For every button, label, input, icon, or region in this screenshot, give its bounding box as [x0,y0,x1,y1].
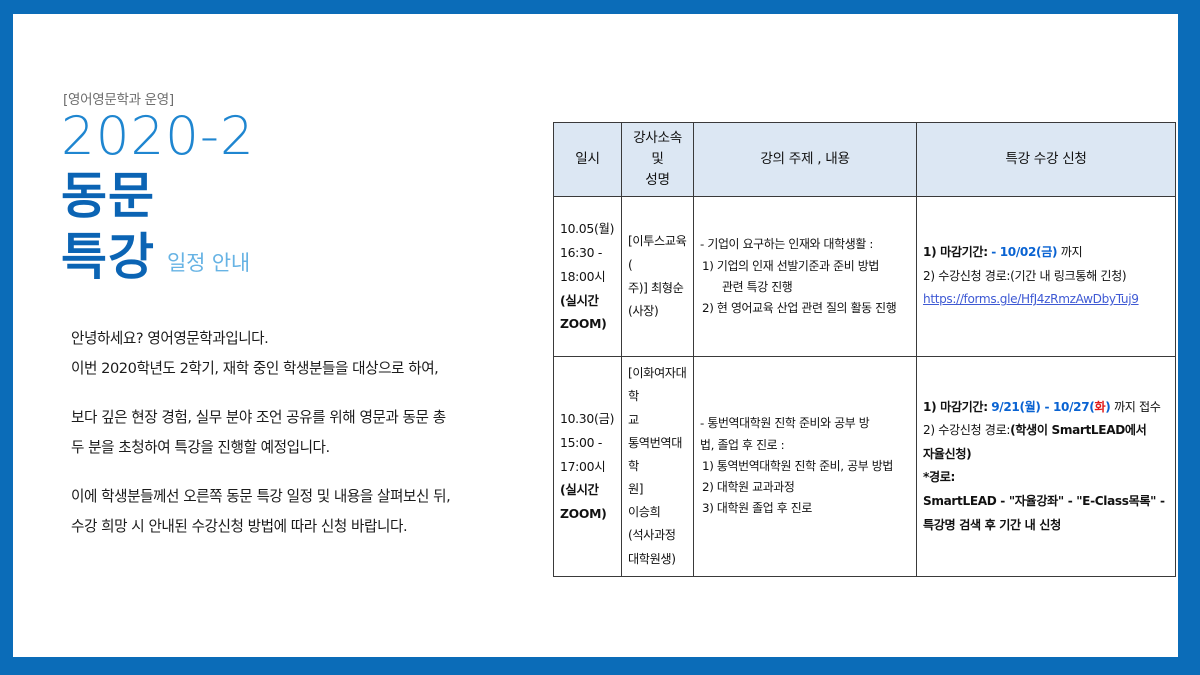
row2-date-line2: 15:00 - [560,435,602,450]
row2-instructor-line5: 이승희 [628,505,660,519]
row2-apply-deadline-date-red: 화 [1095,400,1106,414]
row1-topic-item1-cont: 관련 특강 진행 [700,277,910,298]
col-header-apply: 특강 수강 신청 [917,123,1176,197]
body-p3-line2: 수강 희망 시 안내된 수강신청 방법에 따라 신청 바랍니다. [71,512,501,542]
schedule-table-wrapper: 일시 강사소속 및 성명 강의 주제 , 내용 특강 수강 신청 10.05(월… [553,122,1175,577]
row2-apply-path-steps: SmartLEAD - "자율강좌" - "E-Class목록" - [923,490,1169,514]
row1-instructor-line3: (사장) [628,304,658,318]
slide-canvas: [영어영문학과 운영] 2020-2 동문 특강 일정 안내 안녕하세요? 영어… [13,14,1178,657]
row2-instructor-line4: 원] [628,482,643,496]
row2-topic-lead2: 법, 졸업 후 진로 : [700,435,910,456]
row2-apply-route-value: (학생이 SmartLEAD에서 [1010,423,1146,437]
row2-instructor-line1: [이화여자대학 [628,366,686,403]
body-p1-line1: 안녕하세요? 영어영문학과입니다. [71,324,501,354]
row2-apply-deadline-date-close: ) [1105,400,1110,414]
row2-apply-path-label: *경로: [923,466,1169,490]
row2-date-line3: 17:00시 [560,459,605,474]
row1-date-line2: 16:30 - [560,245,602,260]
row2-instructor-line6: (석사과정 [628,528,676,542]
subtitle: 일정 안내 [167,247,250,286]
row2-apply-route: 2) 수강신청 경로:(학생이 SmartLEAD에서 [923,419,1169,443]
row2-date-line4: (실시간 [560,482,599,497]
row1-apply-deadline-tail: 까지 [1061,245,1083,259]
row2-apply-route-label: 2) 수강신청 경로: [923,423,1010,437]
row2-instructor-line7: 대학원생) [628,552,676,566]
row2-topic-item2: 2) 대학원 교과과정 [700,477,910,498]
year-heading: 2020-2 [61,110,500,164]
row1-instructor-line2: 주)] 최형순 [628,281,683,295]
row1-apply-cell: 1) 마감기간: - 10/02(금) 까지 2) 수강신청 경로:(기간 내 … [917,197,1176,357]
row1-topic-item2: 2) 현 영어교육 산업 관련 질의 활동 진행 [700,298,910,319]
row2-apply-deadline-date: 9/21(월) - 10/27( [991,400,1094,414]
col-header-instructor-line2: 성명 [645,172,669,188]
table-header-row: 일시 강사소속 및 성명 강의 주제 , 내용 특강 수강 신청 [554,123,1176,197]
body-copy: 안녕하세요? 영어영문학과입니다. 이번 2020학년도 2학기, 재학 중인 … [71,324,501,542]
body-p3-line1: 이에 학생분들께선 오른쪽 동문 특강 일정 및 내용을 살펴보신 뒤, [71,482,501,512]
row1-apply-deadline: 1) 마감기간: - 10/02(금) 까지 [923,241,1169,265]
row2-apply-deadline-label: 1) 마감기간: [923,400,988,414]
col-header-date: 일시 [554,123,622,197]
row2-apply-route-cont: 자율신청) [923,443,1169,467]
row1-apply-deadline-label: 1) 마감기간: [923,245,988,259]
main-title-row2: 특강 일정 안내 [60,225,500,286]
row1-date-line5: ZOOM) [560,316,607,331]
row1-date-cell: 10.05(월) 16:30 - 18:00시 (실시간 ZOOM) [554,197,622,357]
row1-apply-form-link[interactable]: https://forms.gle/HfJ4zRmzAwDbyTuj9 [923,288,1169,312]
row2-apply-deadline-tail: 까지 접수 [1114,400,1161,414]
row1-topic-lead: - 기업이 요구하는 인재와 대학생활 : [700,234,910,255]
row1-date-line4: (실시간 [560,293,599,308]
col-header-instructor: 강사소속 및 성명 [622,123,694,197]
main-title-line1: 동문 [61,168,500,225]
row2-apply-cell: 1) 마감기간: 9/21(월) - 10/27(화) 까지 접수 2) 수강신… [917,357,1176,577]
slide-frame: [영어영문학과 운영] 2020-2 동문 특강 일정 안내 안녕하세요? 영어… [0,0,1200,675]
row1-topic-cell: - 기업이 요구하는 인재와 대학생활 : 1) 기업의 인재 선발기준과 준비… [694,197,917,357]
department-tag: [영어영문학과 운영] [63,88,500,108]
row2-apply-deadline: 1) 마감기간: 9/21(월) - 10/27(화) 까지 접수 [923,396,1169,420]
row1-apply-route: 2) 수강신청 경로:(기간 내 링크통해 긴청) [923,265,1169,289]
row2-date-line5: ZOOM) [560,506,607,521]
row2-topic-item1: 1) 통역번역대학원 진학 준비, 공부 방법 [700,456,910,477]
row1-instructor-cell: [이투스교육( 주)] 최형순 (사장) [622,197,694,357]
row2-topic-cell: - 통번역대학원 진학 준비와 공부 방 법, 졸업 후 진로 : 1) 통역번… [694,357,917,577]
table-row: 10.05(월) 16:30 - 18:00시 (실시간 ZOOM) [이투스교… [554,197,1176,357]
row1-topic-item1: 1) 기업의 인재 선발기준과 준비 방법 [700,256,910,277]
schedule-table: 일시 강사소속 및 성명 강의 주제 , 내용 특강 수강 신청 10.05(월… [553,122,1176,577]
row1-date-line1: 10.05(월) [560,221,614,236]
row1-apply-deadline-date: - 10/02(금) [991,245,1057,259]
row2-topic-item3: 3) 대학원 졸업 후 진로 [700,498,910,519]
body-p2-line2: 두 분을 초청하여 특강을 진행할 예정입니다. [71,433,501,463]
row2-date-cell: 10.30(금) 15:00 - 17:00시 (실시간 ZOOM) [554,357,622,577]
row2-instructor-line2: 교 [628,413,639,427]
row1-instructor-line1: [이투스교육( [628,234,686,271]
row2-instructor-line3: 통역번역대학 [628,436,682,473]
col-header-topic: 강의 주제 , 내용 [694,123,917,197]
title-block: [영어영문학과 운영] 2020-2 동문 특강 일정 안내 [60,88,500,286]
table-row: 10.30(금) 15:00 - 17:00시 (실시간 ZOOM) [이화여자… [554,357,1176,577]
row2-instructor-cell: [이화여자대학 교 통역번역대학 원] 이승희 (석사과정 대학원생) [622,357,694,577]
row2-topic-lead: - 통번역대학원 진학 준비와 공부 방 [700,413,910,434]
body-p1-line2: 이번 2020학년도 2학기, 재학 중인 학생분들을 대상으로 하여, [71,354,501,384]
row2-apply-path-final: 특강명 검색 후 기간 내 신청 [923,514,1169,538]
body-p2-line1: 보다 깊은 현장 경험, 실무 분야 조언 공유를 위해 영문과 동문 총 [71,403,501,433]
col-header-instructor-line1: 강사소속 및 [633,130,682,167]
row1-date-line3: 18:00시 [560,269,605,284]
row2-date-line1: 10.30(금) [560,411,614,426]
main-title-line2: 특강 [61,229,155,286]
